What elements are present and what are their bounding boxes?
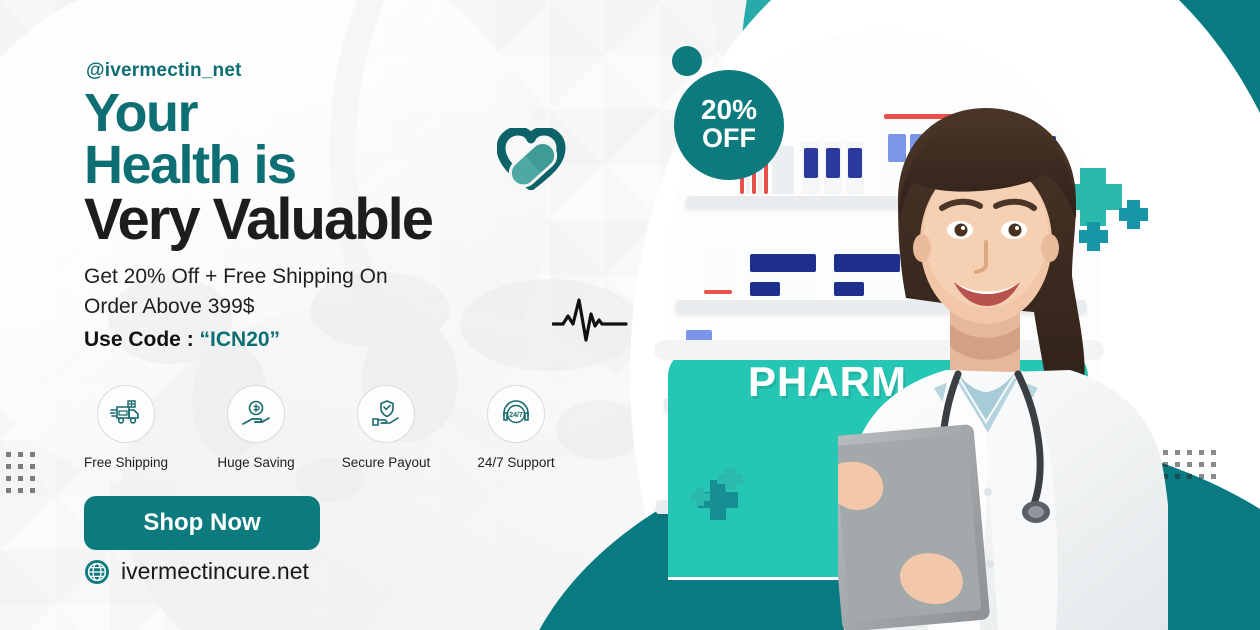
support-badge-text: 24/7 — [509, 412, 523, 419]
headset-support-icon: 24/7 — [500, 399, 532, 429]
feature-icon-circle: 24/7 — [487, 385, 545, 443]
discount-badge-percent: 20% — [701, 96, 757, 124]
promo-code-label: Use Code : — [84, 328, 200, 351]
pharmacist-illustration — [838, 92, 1168, 630]
feature-label: Huge Saving — [208, 455, 304, 470]
feature-item-free-shipping: Free Shipping — [78, 385, 174, 470]
hand-coin-icon — [240, 399, 272, 429]
feature-list: Free Shipping Huge Saving — [78, 385, 564, 470]
offer-subtext-line-1: Get 20% Off + Free Shipping On — [84, 262, 554, 292]
feature-icon-circle — [357, 385, 415, 443]
offer-subtext-line-2: Order Above 399$ — [84, 292, 554, 322]
headline-line-3: Very Valuable — [84, 192, 644, 248]
website-link[interactable]: ivermectincure.net — [84, 558, 309, 585]
discount-badge: 20% OFF — [674, 70, 784, 180]
social-handle: @ivermectin_net — [86, 60, 242, 82]
promo-code-value: “ICN20” — [200, 328, 281, 351]
feature-item-huge-saving: Huge Saving — [208, 385, 304, 470]
medical-cross-small-cluster-icon — [686, 466, 756, 536]
promo-banner: PHARM — [0, 0, 1260, 630]
product-box — [804, 148, 818, 178]
feature-label: Free Shipping — [78, 455, 174, 470]
product-box — [750, 282, 780, 296]
feature-item-secure-payout: Secure Payout — [338, 385, 434, 470]
badge-accent-dot — [672, 46, 702, 76]
heart-pill-icon — [497, 128, 567, 190]
delivery-truck-icon — [110, 399, 142, 429]
feature-item-support: 24/7 24/7 Support — [468, 385, 564, 470]
feature-icon-circle — [97, 385, 155, 443]
discount-badge-off: OFF — [702, 124, 756, 154]
product-box — [704, 290, 732, 294]
feature-label: 24/7 Support — [468, 455, 564, 470]
hand-shield-icon — [370, 399, 402, 429]
heartbeat-line-icon — [552, 296, 630, 342]
shop-now-button[interactable]: Shop Now — [84, 496, 320, 550]
feature-icon-circle — [227, 385, 285, 443]
product-box — [750, 254, 816, 272]
offer-subtext: Get 20% Off + Free Shipping On Order Abo… — [84, 262, 554, 323]
promo-code-line: Use Code : “ICN20” — [84, 328, 280, 352]
globe-icon — [84, 559, 110, 585]
website-url-text: ivermectincure.net — [121, 558, 309, 585]
feature-label: Secure Payout — [338, 455, 434, 470]
